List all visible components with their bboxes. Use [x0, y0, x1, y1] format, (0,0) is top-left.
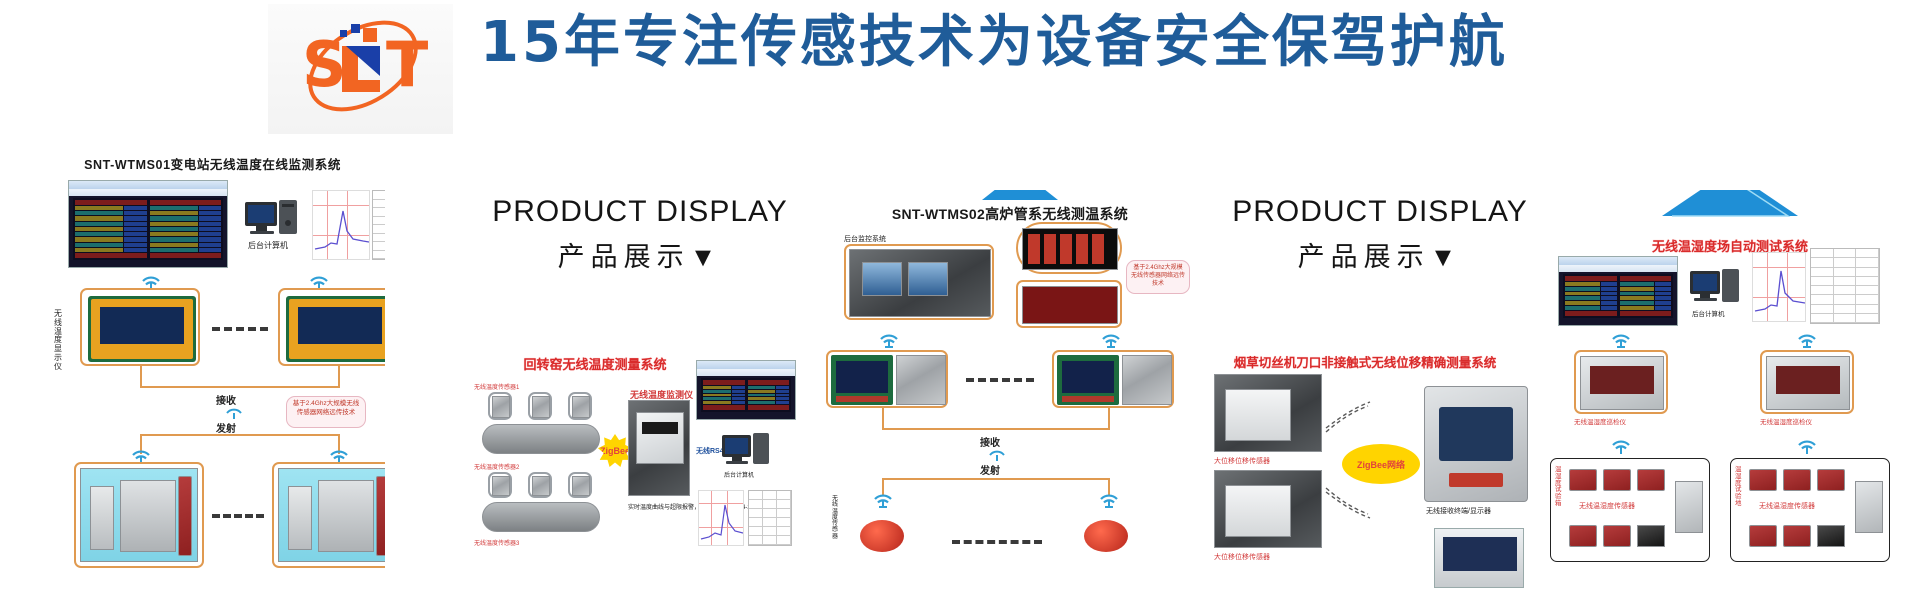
side-note-label: 无线温度显示仪: [54, 310, 64, 372]
wtms02-remote-monitor-label: 后台监控系统: [844, 234, 886, 244]
bus-line: [1108, 408, 1110, 430]
kiln-node-3: [568, 392, 592, 420]
sensor-box-left: 温湿度试验箱 无线温湿度传感器: [1550, 458, 1710, 562]
thfield-chart: [1752, 252, 1806, 322]
product-display-cn: 产品展示▼: [480, 235, 800, 274]
thfield-device-left-label: 无线温湿度巡检仪: [1574, 416, 1626, 426]
panel-thfield: 无线温湿度场自动测试系统: [1540, 190, 1920, 600]
svg-text:T: T: [386, 28, 428, 101]
kiln-node-6: [568, 472, 592, 498]
bus-line: [338, 366, 340, 388]
chevron-up-icon: [980, 190, 1060, 202]
kiln-node-label-2: 无线温度传感器2: [474, 462, 519, 471]
bus-line: [140, 386, 340, 388]
dash-connector: [966, 378, 1034, 382]
kiln-table: [748, 490, 792, 546]
dash-connector: [212, 514, 264, 518]
panel-kiln: 回转窑无线温度测量系统 无线温度传感器1 无线温度传感器2 无线温度传感器3 Z…: [470, 350, 800, 600]
hmi-device-right: [278, 288, 385, 366]
bus-line: [882, 428, 1110, 430]
bus-line: [140, 366, 142, 388]
page-header: S T 15年专注传感技术为设备安全保驾护航: [0, 0, 1920, 138]
dash-connector: [952, 540, 1042, 544]
bus-line: [882, 408, 884, 430]
snt-logo-icon: S T: [268, 4, 453, 134]
wtms02-side-note: 无线温度传感器: [832, 496, 841, 540]
sensor-box-right-side-label: 温湿度试验地: [1735, 467, 1743, 508]
panel-wtms01: SNT-WTMS01变电站无线温度在线监测系统: [40, 140, 385, 600]
thfield-device-right: [1760, 350, 1854, 414]
thfield-host-pc-label: 后台计算机: [1692, 308, 1725, 318]
switchgear-right: [272, 462, 385, 568]
wifi-icon: [1100, 330, 1122, 348]
wifi-icon: [878, 330, 900, 348]
receiver-unit-right: [1052, 350, 1174, 408]
sensor-box-left-side-label: 温湿度试验箱: [1555, 467, 1563, 508]
thfield-device-right-label: 无线温湿度巡检仪: [1760, 416, 1812, 426]
monitor-face: [636, 412, 684, 464]
monitor-readout: [642, 422, 678, 434]
tobacco-machine-photo-bottom: [1214, 470, 1322, 548]
wifi-icon: [1098, 490, 1120, 508]
tobacco-panel-photo: [1434, 528, 1524, 588]
tobacco-receiver-photo: [1424, 386, 1528, 502]
sensor-box-right-label: 无线温湿度传感器: [1759, 501, 1815, 511]
thfield-table: [1810, 248, 1880, 324]
host-pc-icon: [1690, 268, 1742, 306]
sensor-node-right: [1076, 512, 1138, 560]
panel-kiln-title: 回转窑无线温度测量系统: [500, 354, 690, 373]
kiln-node-1: [488, 392, 512, 420]
wifi-icon: [1796, 330, 1818, 348]
hmi-device-left: [80, 288, 200, 366]
zigbee-badge: ZigBee: [598, 434, 632, 468]
control-room-photo: [844, 244, 994, 320]
kiln-node-2: [528, 392, 552, 420]
zigbee-network-badge: ZigBee网络: [1342, 444, 1420, 484]
temperature-chart: [312, 190, 370, 260]
logo-block: S T: [268, 4, 453, 134]
panel-tobacco-title: 烟草切丝机刀口非接触式无线位移精确测量系统: [1200, 352, 1530, 371]
page-root: S T 15年专注传感技术为设备安全保驾护航 SNT-WTMS01变电站无线温度…: [0, 0, 1920, 600]
kiln-vessel-bottom: [482, 502, 600, 532]
transmit-label: 发射: [216, 420, 236, 435]
host-pc-icon: [722, 432, 772, 468]
product-display-block-2: PRODUCT DISPLAY 产品展示▼: [1220, 195, 1540, 274]
tech-callout: 基于2.4Ghz大规模无线传感器网络远传技术: [286, 396, 366, 428]
tobacco-sensor-label-2: 大位移位移传感器: [1214, 552, 1270, 562]
receive-label: 接收: [980, 434, 1000, 449]
product-display-en: PRODUCT DISPLAY: [1220, 195, 1540, 229]
sensor-box-left-label: 无线温湿度传感器: [1579, 501, 1635, 511]
monitor-screenshot: [68, 180, 228, 268]
tobacco-receiver-label: 无线接收终端/显示器: [1426, 506, 1491, 516]
panel-wtms01-title: SNT-WTMS01变电站无线温度在线监测系统: [40, 154, 385, 173]
kiln-chart: [698, 490, 744, 546]
wifi-icon: [1796, 436, 1818, 454]
sensor-box-right: 温湿度试验地 无线温湿度传感器: [1730, 458, 1890, 562]
product-display-cn: 产品展示▼: [1220, 235, 1540, 274]
rack-photo-top: [1016, 222, 1122, 274]
dash-connector: [212, 327, 268, 331]
host-pc-icon: [245, 198, 301, 238]
tobacco-machine-photo-top: [1214, 374, 1322, 452]
kiln-vessel-top: [482, 424, 600, 454]
signal-arrow-icon: [1324, 398, 1378, 438]
rack-photo-bottom: [1016, 280, 1122, 328]
wifi-icon: [1610, 330, 1632, 348]
receiver-unit-left: [826, 350, 948, 408]
kiln-node-label-1: 无线温度传感器1: [474, 382, 519, 391]
kiln-node-label-3: 无线温度传感器3: [474, 538, 519, 547]
kiln-node-5: [528, 472, 552, 498]
panel-wtms02-title: SNT-WTMS02高炉管系无线测温系统: [820, 204, 1200, 224]
chevron-up-icon: [1660, 190, 1800, 218]
page-title: 15年专注传感技术为设备安全保驾护航: [480, 8, 1660, 78]
wifi-icon: [225, 406, 243, 420]
receive-label: 接收: [216, 392, 236, 407]
switchgear-left: [74, 462, 204, 568]
bus-line: [140, 434, 340, 436]
product-display-block-1: PRODUCT DISPLAY 产品展示▼: [480, 195, 800, 274]
sensor-node-left: [852, 512, 914, 560]
wifi-icon: [988, 448, 1006, 462]
transmit-label: 发射: [980, 462, 1000, 477]
signal-arrow-icon: [1324, 482, 1378, 522]
kiln-host-pc-label: 后台计算机: [724, 470, 754, 479]
product-display-en: PRODUCT DISPLAY: [480, 195, 800, 229]
svg-text:S: S: [302, 28, 347, 101]
thfield-monitor-screenshot: [1558, 256, 1678, 326]
bus-line: [882, 478, 1110, 480]
kiln-node-4: [488, 472, 512, 498]
panel-tobacco: 烟草切丝机刀口非接触式无线位移精确测量系统 大位移位移传感器 大位移位移传感器 …: [1190, 352, 1530, 600]
data-table: [372, 190, 385, 260]
thfield-device-left: [1574, 350, 1668, 414]
panel-wtms02: SNT-WTMS02高炉管系无线测温系统 后台监控系统 基于2.4Ghz大规模无…: [820, 190, 1200, 600]
wifi-icon: [872, 490, 894, 508]
tobacco-sensor-label-1: 大位移位移传感器: [1214, 456, 1270, 466]
host-pc-label: 后台计算机: [248, 240, 288, 251]
wifi-icon: [1610, 436, 1632, 454]
wtms02-callout: 基于2.4Ghz大规模无线传感器网络远传技术: [1126, 260, 1190, 294]
kiln-monitor-screenshot: [696, 360, 796, 420]
